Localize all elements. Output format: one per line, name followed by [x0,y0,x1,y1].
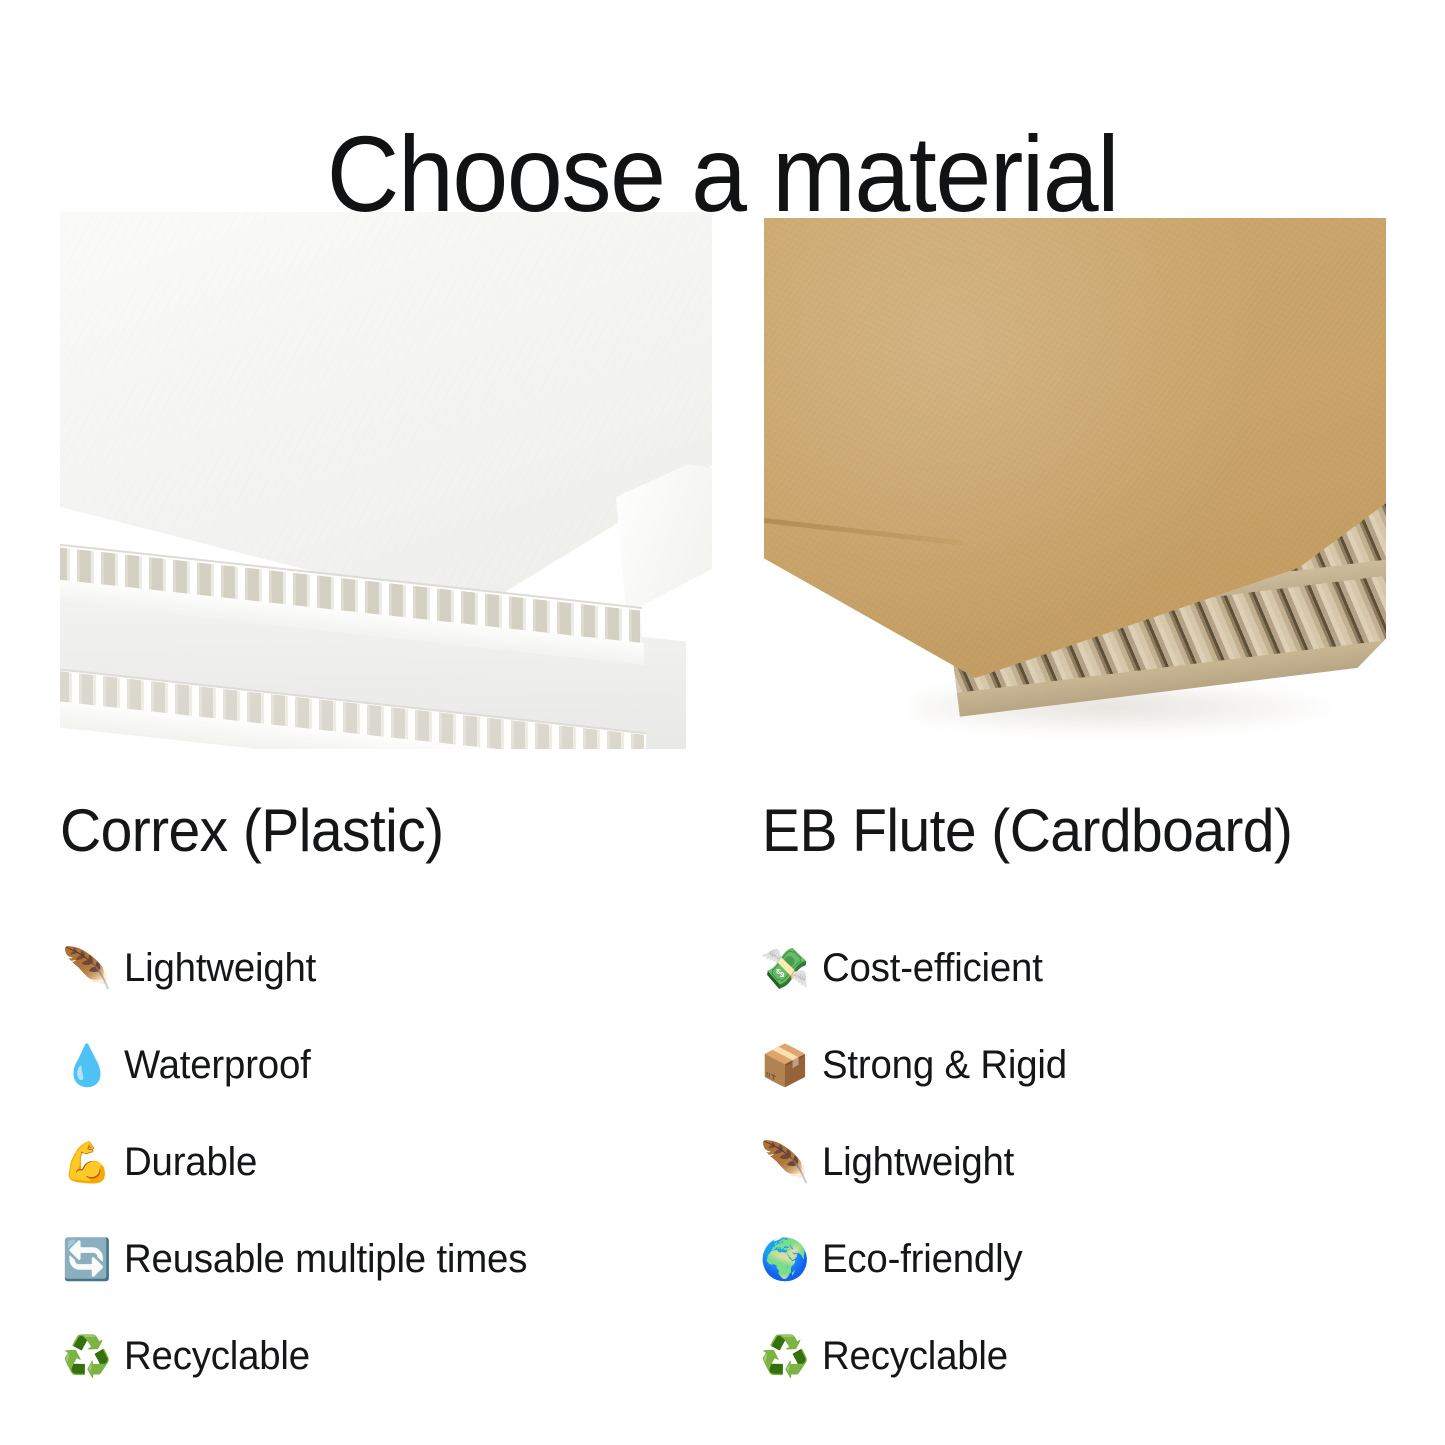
feature-label: Eco-friendly [822,1237,1022,1282]
feature-label: Cost-efficient [822,946,1043,991]
feature-item: 🪶 Lightweight [760,1114,1077,1211]
feature-item: ♻️ Recyclable [760,1308,1077,1405]
feature-item: 💪 Durable [62,1114,544,1211]
feather-icon: 🪶 [760,1143,822,1183]
feature-label: Durable [124,1140,257,1185]
correx-illustration [60,212,712,749]
feather-icon: 🪶 [62,949,124,989]
globe-earth-icon: 🌍 [760,1240,822,1280]
cardboard-illustration [764,218,1386,748]
feature-item: 📦 Strong & Rigid [760,1017,1077,1114]
material-name-correx: Correx (Plastic) [60,796,444,865]
recycling-icon: ♻️ [760,1337,822,1377]
feature-label: Lightweight [822,1140,1014,1185]
material-photo-eb-flute[interactable] [764,218,1386,748]
feature-item: 🪶 Lightweight [62,920,544,1017]
material-photo-correx[interactable] [60,212,712,749]
money-with-wings-icon: 💸 [760,949,822,989]
feature-item: 💧 Waterproof [62,1017,544,1114]
droplet-icon: 💧 [62,1046,124,1086]
feature-label: Waterproof [124,1043,311,1088]
counterclockwise-arrows-icon: 🔄 [62,1240,124,1280]
flexed-biceps-icon: 💪 [62,1143,124,1183]
recycling-icon: ♻️ [62,1337,124,1377]
feature-item: 🔄 Reusable multiple times [62,1211,544,1308]
feature-label: Lightweight [124,946,316,991]
feature-label: Recyclable [822,1334,1008,1379]
feature-item: 💸 Cost-efficient [760,920,1077,1017]
feature-item: 🌍 Eco-friendly [760,1211,1077,1308]
feature-list-eb-flute: 💸 Cost-efficient 📦 Strong & Rigid 🪶 Ligh… [760,920,1077,1405]
feature-label: Recyclable [124,1334,310,1379]
package-box-icon: 📦 [760,1046,822,1086]
feature-label: Strong & Rigid [822,1043,1067,1088]
material-name-eb-flute: EB Flute (Cardboard) [762,796,1292,865]
feature-list-correx: 🪶 Lightweight 💧 Waterproof 💪 Durable 🔄 R… [62,920,544,1405]
correx-upper-sheet-top [60,212,712,612]
feature-label: Reusable multiple times [124,1237,527,1282]
feature-item: ♻️ Recyclable [62,1308,544,1405]
material-chooser-page: Choose a material Correx (Plastic) 🪶 Lig… [0,0,1445,1445]
